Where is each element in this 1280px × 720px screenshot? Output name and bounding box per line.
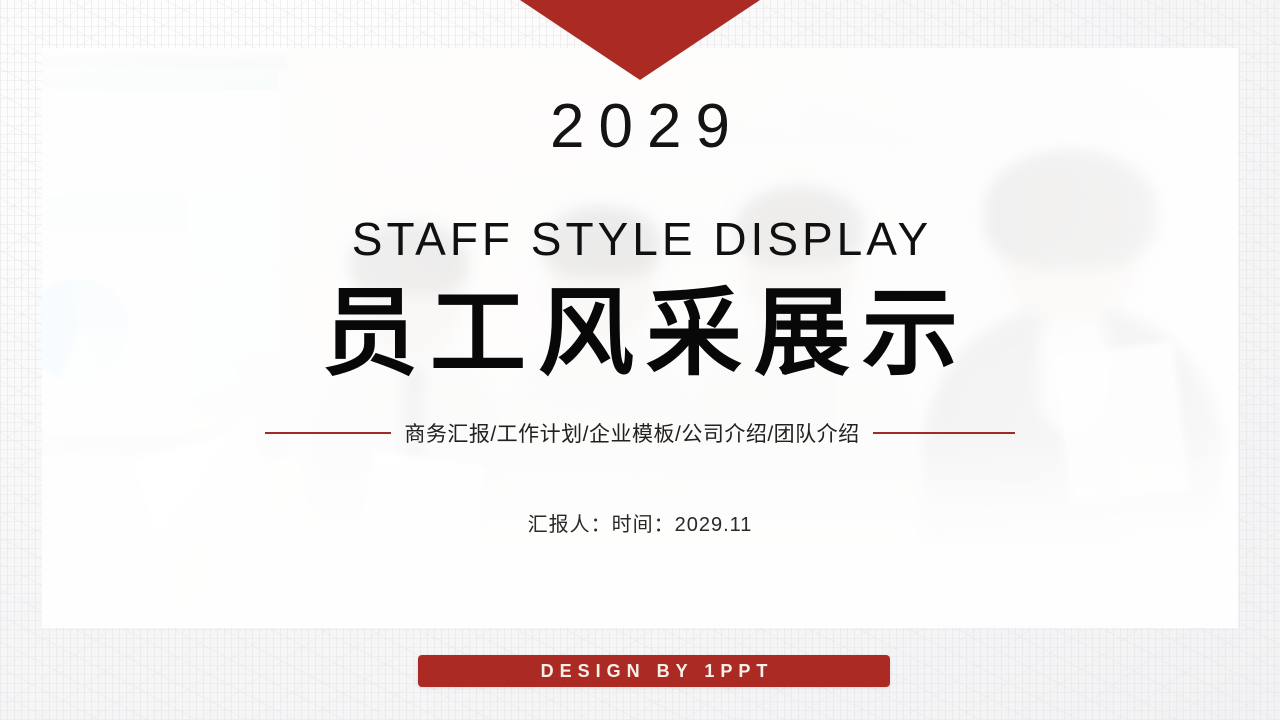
design-credit-label: DESIGN BY 1PPT — [535, 661, 774, 682]
presentation-slide: 2029 STAFF STYLE DISPLAY 员工风采展示 商务汇报/工作计… — [0, 0, 1280, 720]
background-photo — [42, 48, 1238, 628]
photo-edge-fade — [42, 48, 1238, 628]
design-credit-banner: DESIGN BY 1PPT — [418, 655, 890, 687]
